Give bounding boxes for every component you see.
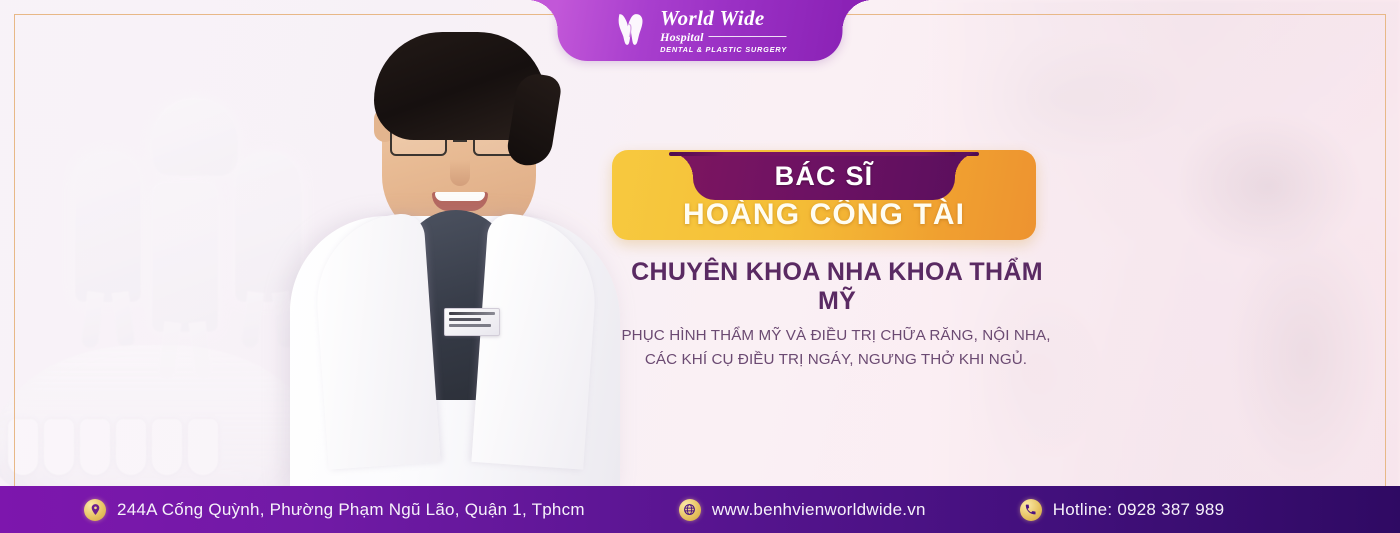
tooth-w-logo-icon [613, 11, 651, 51]
tooth-molar-icon [75, 152, 141, 302]
phone-icon [1020, 499, 1042, 521]
address-text: 244A Cống Quỳnh, Phường Phạm Ngũ Lão, Qu… [117, 500, 585, 520]
role-label: BÁC SĨ [775, 161, 874, 192]
role-ribbon: BÁC SĨ [693, 152, 955, 200]
brand-name: World Wide [660, 8, 787, 29]
globe-icon [679, 499, 701, 521]
white-coat [290, 216, 620, 486]
footer-hotline-item[interactable]: Hotline: 0928 387 989 [1020, 499, 1225, 521]
portrait-nose [450, 160, 470, 186]
footer-website-item[interactable]: www.benhvienworldwide.vn [679, 499, 926, 521]
brand-header: World Wide Hospital DENTAL & PLASTIC SUR… [558, 0, 843, 61]
id-badge [444, 308, 500, 336]
website-text: www.benhvienworldwide.vn [712, 500, 926, 520]
hotline-text: Hotline: 0928 387 989 [1053, 500, 1225, 520]
portrait-smile [432, 192, 488, 211]
ribbon-lip [669, 152, 979, 156]
portrait-hair [374, 32, 546, 140]
coat-lapel-right [471, 212, 600, 469]
brand-sub: Hospital [660, 31, 704, 43]
tooth-molar-icon [152, 182, 218, 332]
brand-wordmark: World Wide Hospital DENTAL & PLASTIC SUR… [660, 8, 787, 53]
doctor-portrait [262, 0, 652, 486]
tooth-crown-icon [152, 98, 238, 176]
coat-lapel-left [311, 212, 440, 469]
description-line-1: PHỤC HÌNH THẨM MỸ VÀ ĐIỀU TRỊ CHỮA RĂNG,… [605, 325, 1067, 347]
glasses-bridge [453, 140, 467, 142]
brand-tagline: DENTAL & PLASTIC SURGERY [660, 46, 787, 53]
contact-footer-bar: 244A Cống Quỳnh, Phường Phạm Ngũ Lão, Qu… [0, 486, 1400, 533]
footer-address-item: 244A Cống Quỳnh, Phường Phạm Ngũ Lão, Qu… [84, 499, 585, 521]
doctor-name-plate: BÁC SĨ HOÀNG CÔNG TÀI [612, 150, 1036, 240]
specialty-line: CHUYÊN KHOA NHA KHOA THẨM MỸ [612, 258, 1062, 316]
clinic-promo-banner: World Wide Hospital DENTAL & PLASTIC SUR… [0, 0, 1400, 533]
location-pin-icon [84, 499, 106, 521]
doctor-title-block: BÁC SĨ HOÀNG CÔNG TÀI CHUYÊN KHOA NHA KH… [612, 150, 1062, 371]
brand-divider [709, 36, 787, 37]
doctor-name: HOÀNG CÔNG TÀI [683, 198, 965, 232]
description-line-2: CÁC KHÍ CỤ ĐIỀU TRỊ NGÁY, NGƯNG THỞ KHI … [605, 349, 1067, 371]
